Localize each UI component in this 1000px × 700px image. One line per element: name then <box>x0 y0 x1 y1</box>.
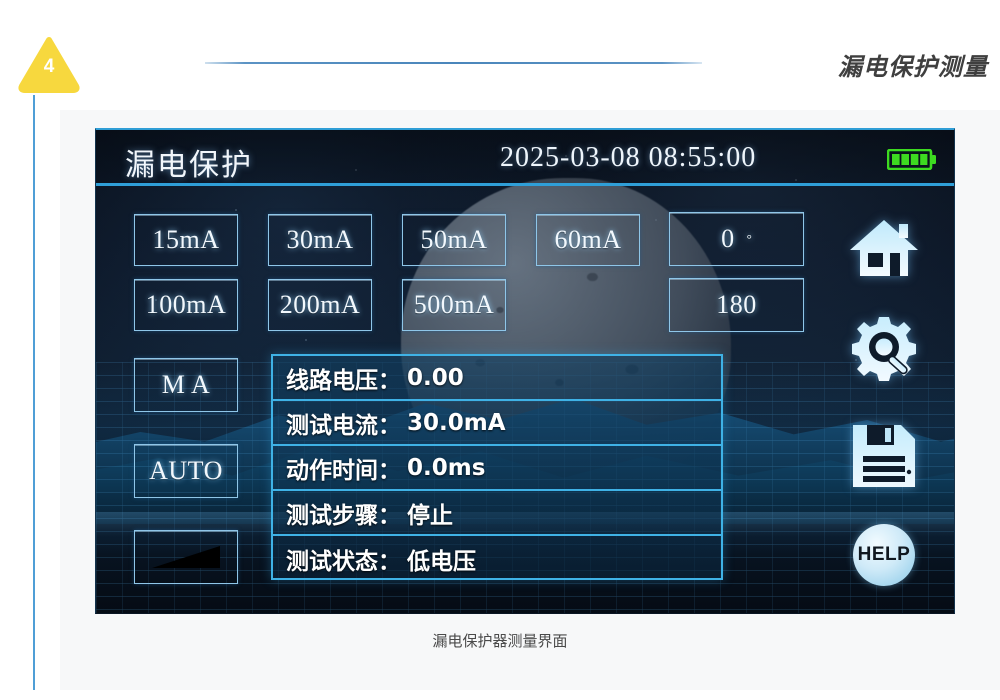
screen-header-bar: 漏电保护 2025-03-08 08:55:00 <box>96 130 954 186</box>
measurement-label: 测试状态： <box>286 542 401 576</box>
angle-180-button[interactable]: 180 <box>669 278 804 332</box>
page-title: 漏电保护测量 <box>838 47 988 82</box>
measurement-row-test-step: 测试步骤： 停止 <box>273 491 721 536</box>
ramp-waveform-icon <box>150 541 222 573</box>
help-label: HELP <box>858 544 911 566</box>
measurement-row-line-voltage: 线路电压： 0.00 <box>273 356 721 401</box>
screen-datetime: 2025-03-08 08:55:00 <box>500 142 756 174</box>
measurement-label: 测试步骤： <box>286 496 401 530</box>
measurement-row-trip-time: 动作时间： 0.0ms <box>273 446 721 491</box>
measurement-row-test-current: 测试电流： 30.0mA <box>273 401 721 446</box>
measurement-value: 30.0mA <box>407 410 506 436</box>
step-badge: 4 <box>18 36 80 94</box>
help-icon[interactable]: HELP <box>853 524 915 586</box>
gear-search-icon[interactable] <box>848 316 920 382</box>
measurement-label: 测试电流： <box>286 406 401 440</box>
measurement-label: 动作时间： <box>286 451 401 485</box>
current-50ma-button[interactable]: 50mA <box>402 214 506 266</box>
home-icon[interactable] <box>848 216 920 280</box>
degree-symbol: ° <box>747 231 752 247</box>
battery-icon <box>887 149 937 170</box>
ramp-waveform-button[interactable] <box>134 530 238 584</box>
measurement-value: 0.00 <box>407 365 464 391</box>
measurement-value: 停止 <box>407 496 453 530</box>
current-100ma-button[interactable]: 100mA <box>134 279 238 331</box>
measurement-value: 低电压 <box>407 542 476 576</box>
header-divider <box>205 62 702 64</box>
figure-caption: 漏电保护器测量界面 <box>0 630 1000 651</box>
current-30ma-button[interactable]: 30mA <box>268 214 372 266</box>
current-15ma-button[interactable]: 15mA <box>134 214 238 266</box>
current-500ma-button[interactable]: 500mA <box>402 279 506 331</box>
measurement-value: 0.0ms <box>407 455 485 481</box>
mode-ma-button[interactable]: M A <box>134 358 238 412</box>
current-200ma-button[interactable]: 200mA <box>268 279 372 331</box>
measurement-panel: 线路电压： 0.00 测试电流： 30.0mA 动作时间： 0.0ms 测试步骤… <box>271 354 723 580</box>
page-root: 4 漏电保护测量 漏电保护 2025-03-08 08:55:00 <box>0 0 1000 700</box>
angle-0-button[interactable]: 0 ° <box>669 212 804 266</box>
current-60ma-button[interactable]: 60mA <box>536 214 640 266</box>
step-badge-number: 4 <box>18 56 80 78</box>
measurement-row-test-status: 测试状态： 低电压 <box>273 536 721 581</box>
device-screen: 漏电保护 2025-03-08 08:55:00 15mA 30mA 50mA <box>95 128 955 614</box>
screen-title: 漏电保护 <box>125 140 253 184</box>
save-floppy-icon[interactable] <box>850 422 918 490</box>
left-accent-rail <box>33 95 35 690</box>
measurement-label: 线路电压： <box>286 361 401 395</box>
mode-auto-button[interactable]: AUTO <box>134 444 238 498</box>
